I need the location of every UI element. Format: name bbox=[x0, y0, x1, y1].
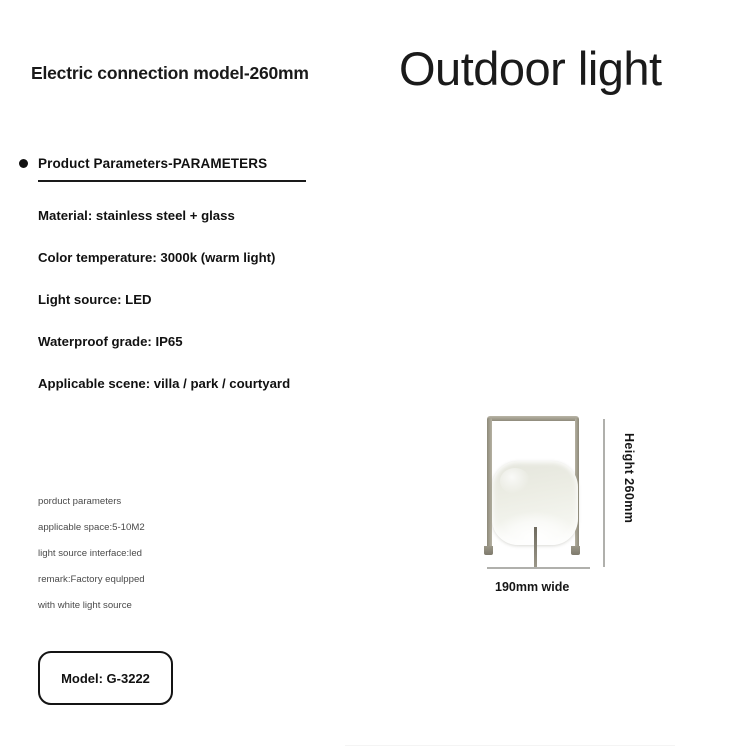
width-dimension-label: 190mm wide bbox=[495, 580, 569, 594]
bottom-hairline bbox=[345, 745, 675, 746]
model-badge-label: Model: G-3222 bbox=[61, 671, 150, 686]
height-dimension-label: Height 260mm bbox=[622, 433, 636, 523]
page-title-left: Electric connection model-260mm bbox=[31, 63, 309, 84]
parameter-row: Light source: LED bbox=[38, 292, 378, 334]
lamp-stem bbox=[534, 527, 537, 567]
note-row: remark:Factory equlpped bbox=[38, 573, 278, 599]
secondary-notes-list: porduct parameters applicable space:5-10… bbox=[38, 495, 278, 625]
lamp-foot-right bbox=[571, 546, 580, 555]
model-badge: Model: G-3222 bbox=[38, 651, 173, 705]
parameter-row: Color temperature: 3000k (warm light) bbox=[38, 250, 378, 292]
parameter-row: Material: stainless steel + glass bbox=[38, 208, 378, 250]
lamp-glass-highlight bbox=[500, 468, 530, 494]
product-figure: 190mm wide Height 260mm bbox=[455, 405, 685, 605]
note-row: with white light source bbox=[38, 599, 278, 625]
section-divider bbox=[38, 180, 306, 182]
height-dimension-line bbox=[603, 419, 605, 567]
width-dimension-line bbox=[487, 567, 590, 569]
parameter-row: Applicable scene: villa / park / courtya… bbox=[38, 376, 378, 418]
section-heading: Product Parameters-PARAMETERS bbox=[19, 156, 267, 171]
lamp-frame-left-bar bbox=[487, 418, 492, 551]
lamp-foot-left bbox=[484, 546, 493, 555]
product-parameters-list: Material: stainless steel + glass Color … bbox=[38, 208, 378, 418]
note-row: light source interface:led bbox=[38, 547, 278, 573]
page-title-main: Outdoor light bbox=[399, 44, 662, 93]
bullet-icon bbox=[19, 159, 28, 168]
note-row: porduct parameters bbox=[38, 495, 278, 521]
parameter-row: Waterproof grade: IP65 bbox=[38, 334, 378, 376]
section-heading-label: Product Parameters-PARAMETERS bbox=[38, 156, 267, 171]
note-row: applicable space:5-10M2 bbox=[38, 521, 278, 547]
lamp-frame-top-bar bbox=[487, 416, 579, 421]
